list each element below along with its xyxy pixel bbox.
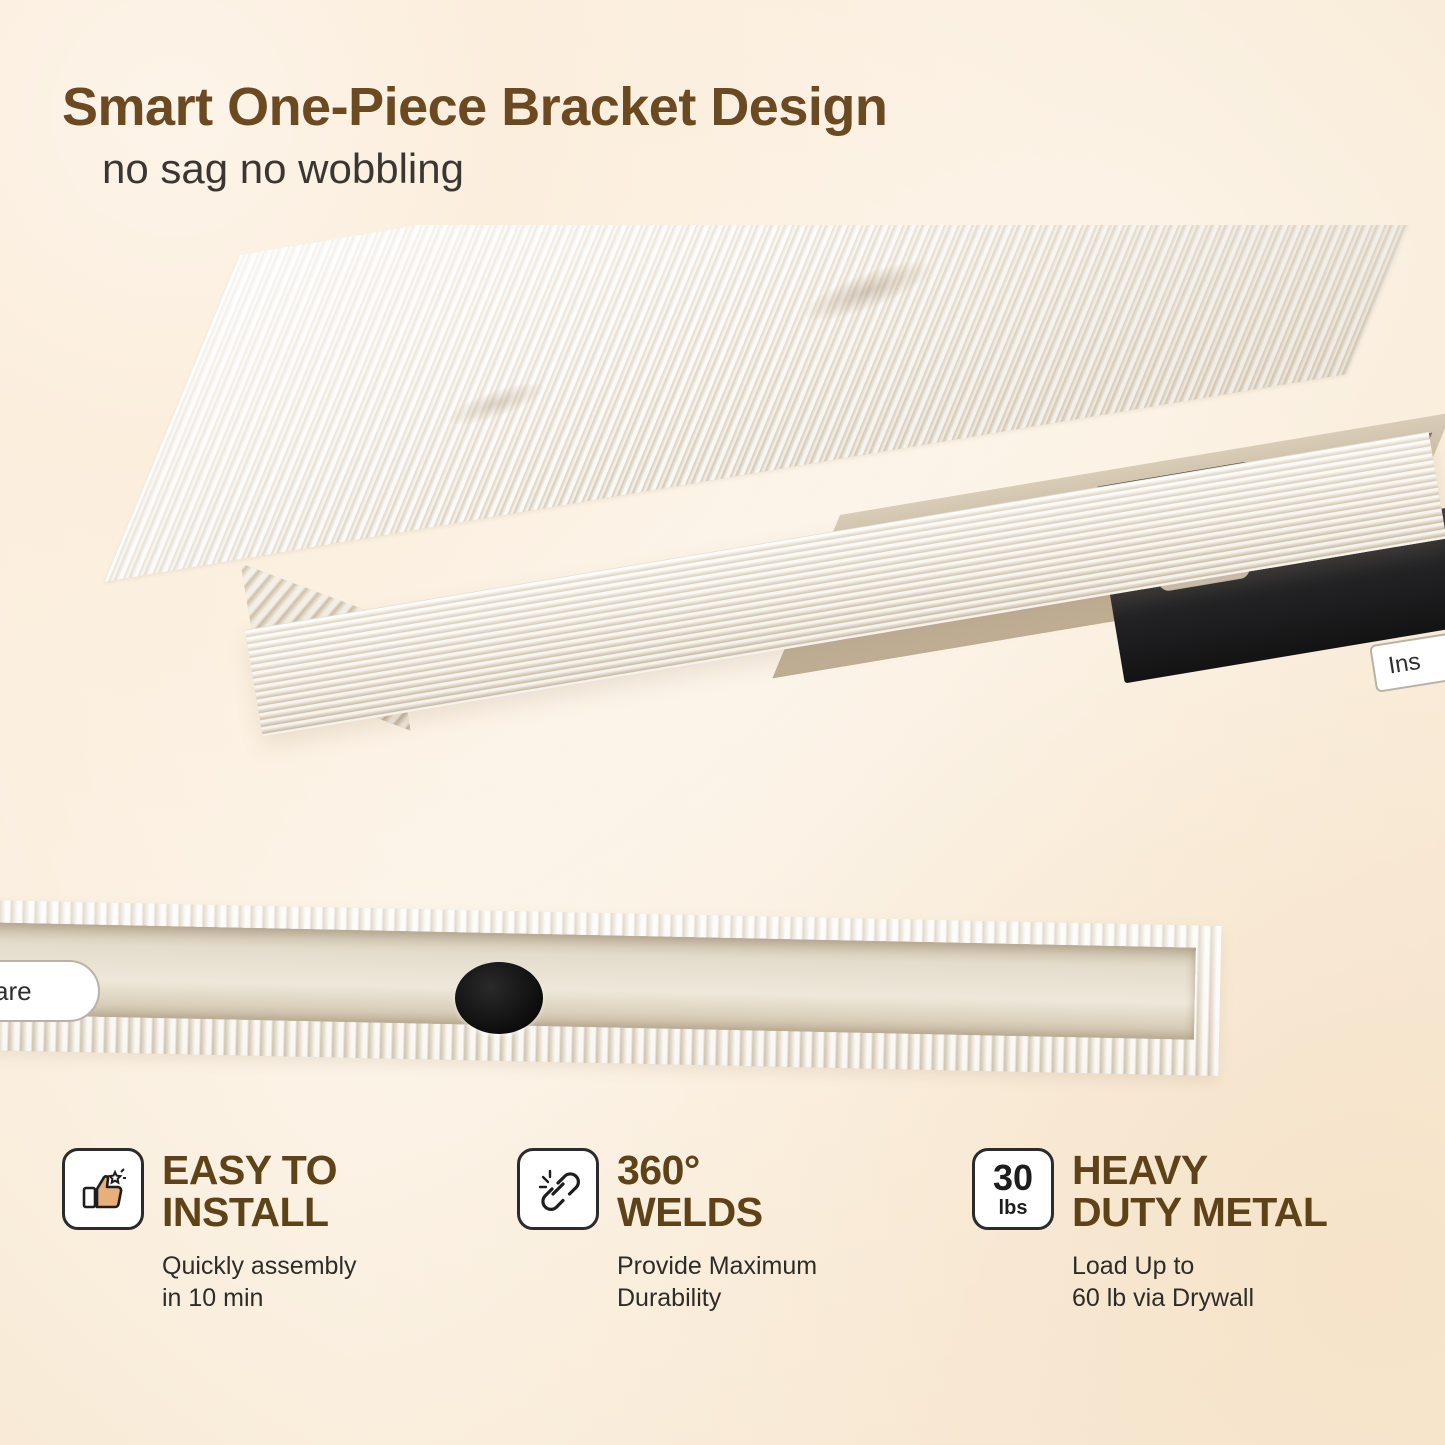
wood-knot [444,375,548,434]
page-subtitle: no sag no wobbling [102,146,1262,192]
feature-head: 360° WELDS [517,1148,928,1234]
feature-head: 30 lbs HEAVY DUTY METAL [972,1148,1383,1234]
mounting-hole [455,962,543,1034]
feature-360-welds: 360° WELDS Provide Maximum Durability [517,1148,928,1314]
page-title: Smart One-Piece Bracket Design [62,78,1262,136]
feature-title: HEAVY DUTY METAL [1072,1150,1327,1234]
weight-badge: 30 lbs [972,1148,1054,1230]
weld-link-icon [517,1148,599,1230]
thumbs-up-icon [62,1148,144,1230]
product-photo-top: Ins [0,225,1445,785]
product-infographic: Smart One-Piece Bracket Design no sag no… [0,0,1445,1445]
feature-title: EASY TO INSTALL [162,1150,337,1234]
heading-block: Smart One-Piece Bracket Design no sag no… [62,78,1262,193]
feature-title: 360° WELDS [617,1150,763,1234]
install-sticker-label: Ins [1386,648,1422,681]
feature-description: Provide Maximum Durability [617,1250,928,1314]
feature-row: EASY TO INSTALL Quickly assembly in 10 m… [0,1148,1445,1314]
feature-description: Quickly assembly in 10 min [162,1250,473,1314]
weight-badge-number: 30 [993,1160,1033,1196]
product-photo-bottom [0,895,1445,1135]
feature-easy-to-install: EASY TO INSTALL Quickly assembly in 10 m… [62,1148,473,1314]
wood-knot [800,250,936,332]
feature-description: Load Up to 60 lb via Drywall [1072,1250,1383,1314]
weight-badge-unit: lbs [999,1198,1028,1218]
care-sticker: are [0,960,100,1022]
feature-head: EASY TO INSTALL [62,1148,473,1234]
care-sticker-label: are [0,976,32,1007]
feature-heavy-duty-metal: 30 lbs HEAVY DUTY METAL Load Up to 60 lb… [972,1148,1383,1314]
